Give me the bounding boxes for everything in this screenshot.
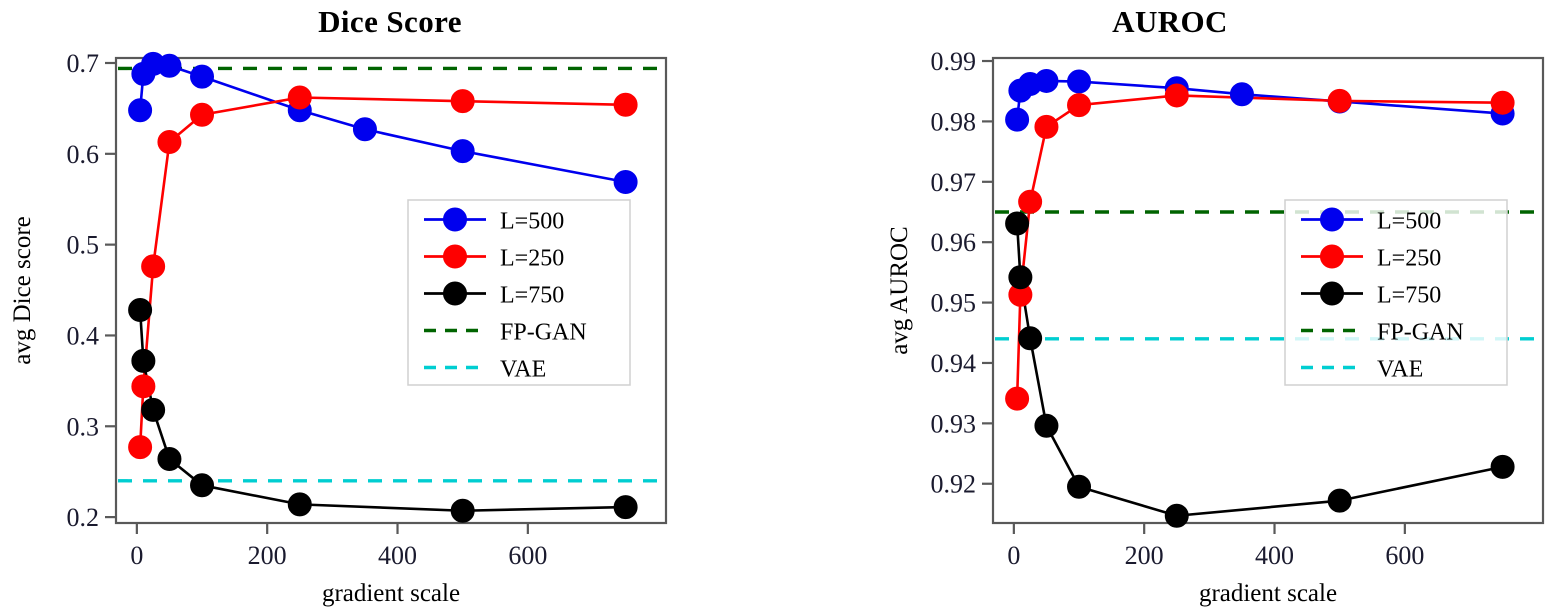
data-point[interactable] xyxy=(1491,91,1514,114)
legend-label-fp-gan: FP-GAN xyxy=(1377,320,1464,346)
legend-label-l-500: L=500 xyxy=(500,209,564,235)
data-point[interactable] xyxy=(1035,115,1058,138)
data-point[interactable] xyxy=(1006,212,1029,235)
legend-label-l-500: L=500 xyxy=(1377,209,1441,235)
auroc-plot-svg: 0.920.930.940.950.960.970.980.9902004006… xyxy=(780,0,1560,608)
legend-swatch-marker xyxy=(1321,282,1344,305)
data-point[interactable] xyxy=(1491,455,1514,478)
data-point[interactable] xyxy=(1035,414,1058,437)
data-point[interactable] xyxy=(451,140,474,163)
data-point[interactable] xyxy=(132,375,155,398)
x-axis-tick-label: 0 xyxy=(130,541,143,570)
x-axis-label: gradient scale xyxy=(1199,580,1337,607)
data-point[interactable] xyxy=(158,131,181,154)
y-axis-label: avg AUROC xyxy=(886,226,913,354)
data-point[interactable] xyxy=(614,170,637,193)
y-axis-tick-label: 0.2 xyxy=(67,503,100,532)
y-axis-tick-label: 0.92 xyxy=(931,470,977,499)
x-axis-tick-label: 0 xyxy=(1007,541,1020,570)
legend-label-l-250: L=250 xyxy=(1377,246,1441,272)
data-point[interactable] xyxy=(129,436,152,459)
legend-label-l-750: L=750 xyxy=(500,283,564,309)
series-line-l-500 xyxy=(140,64,625,182)
legend-swatch-marker xyxy=(1321,245,1344,268)
data-point[interactable] xyxy=(1328,489,1351,512)
legend-swatch-marker xyxy=(1321,208,1344,231)
y-axis-tick-label: 0.4 xyxy=(67,321,100,350)
x-axis-tick-label: 200 xyxy=(248,541,287,570)
data-point[interactable] xyxy=(1068,70,1091,93)
x-axis-tick-label: 400 xyxy=(1255,541,1294,570)
data-point[interactable] xyxy=(614,93,637,116)
y-axis-tick-label: 0.5 xyxy=(67,231,100,260)
y-axis-tick-label: 0.93 xyxy=(931,409,977,438)
data-point[interactable] xyxy=(353,118,376,141)
data-point[interactable] xyxy=(614,496,637,519)
data-point[interactable] xyxy=(1035,69,1058,92)
dice-plot-svg: 0.20.30.40.50.60.70200400600gradient sca… xyxy=(0,0,780,608)
data-point[interactable] xyxy=(158,54,181,77)
data-point[interactable] xyxy=(191,65,214,88)
panel-dice: Dice Score 0.20.30.40.50.60.70200400600g… xyxy=(0,0,780,608)
panel-auroc: AUROC 0.920.930.940.950.960.970.980.9902… xyxy=(780,0,1560,608)
data-point[interactable] xyxy=(191,103,214,126)
legend-swatch-marker xyxy=(444,208,467,231)
x-axis-tick-label: 400 xyxy=(378,541,417,570)
data-point[interactable] xyxy=(129,99,152,122)
x-axis-tick-label: 200 xyxy=(1125,541,1164,570)
data-point[interactable] xyxy=(1230,83,1253,106)
y-axis-tick-label: 0.94 xyxy=(931,349,977,378)
y-axis-tick-label: 0.95 xyxy=(931,289,977,318)
y-axis-label: avg Dice score xyxy=(9,216,36,365)
data-point[interactable] xyxy=(1006,108,1029,131)
legend-label-l-250: L=250 xyxy=(500,246,564,272)
legend-label-l-750: L=750 xyxy=(1377,283,1441,309)
data-point[interactable] xyxy=(142,398,165,421)
legend-label-vae: VAE xyxy=(1377,357,1423,383)
data-point[interactable] xyxy=(1019,190,1042,213)
data-point[interactable] xyxy=(1009,266,1032,289)
data-point[interactable] xyxy=(288,86,311,109)
data-point[interactable] xyxy=(451,90,474,113)
data-point[interactable] xyxy=(1165,84,1188,107)
data-point[interactable] xyxy=(1019,327,1042,350)
y-axis-tick-label: 0.3 xyxy=(67,412,100,441)
data-point[interactable] xyxy=(1068,94,1091,117)
data-point[interactable] xyxy=(158,447,181,470)
y-axis-tick-label: 0.97 xyxy=(931,168,977,197)
legend-swatch-marker xyxy=(444,245,467,268)
data-point[interactable] xyxy=(1068,475,1091,498)
x-axis-label: gradient scale xyxy=(322,580,460,607)
y-axis-tick-label: 0.98 xyxy=(931,107,977,136)
y-axis-tick-label: 0.96 xyxy=(931,228,977,257)
data-point[interactable] xyxy=(451,499,474,522)
data-point[interactable] xyxy=(132,349,155,372)
figure-root: Dice Score 0.20.30.40.50.60.70200400600g… xyxy=(0,0,1560,608)
y-axis-tick-label: 0.99 xyxy=(931,47,977,76)
y-axis-tick-label: 0.7 xyxy=(67,49,100,78)
data-point[interactable] xyxy=(1328,89,1351,112)
legend-label-fp-gan: FP-GAN xyxy=(500,320,587,346)
data-point[interactable] xyxy=(1006,387,1029,410)
data-point[interactable] xyxy=(129,299,152,322)
y-axis-tick-label: 0.6 xyxy=(67,140,100,169)
x-axis-tick-label: 600 xyxy=(508,541,547,570)
data-point[interactable] xyxy=(142,255,165,278)
legend-label-vae: VAE xyxy=(500,357,546,383)
data-point[interactable] xyxy=(191,474,214,497)
data-point[interactable] xyxy=(1165,504,1188,527)
x-axis-tick-label: 600 xyxy=(1385,541,1424,570)
data-point[interactable] xyxy=(288,493,311,516)
legend-swatch-marker xyxy=(444,282,467,305)
